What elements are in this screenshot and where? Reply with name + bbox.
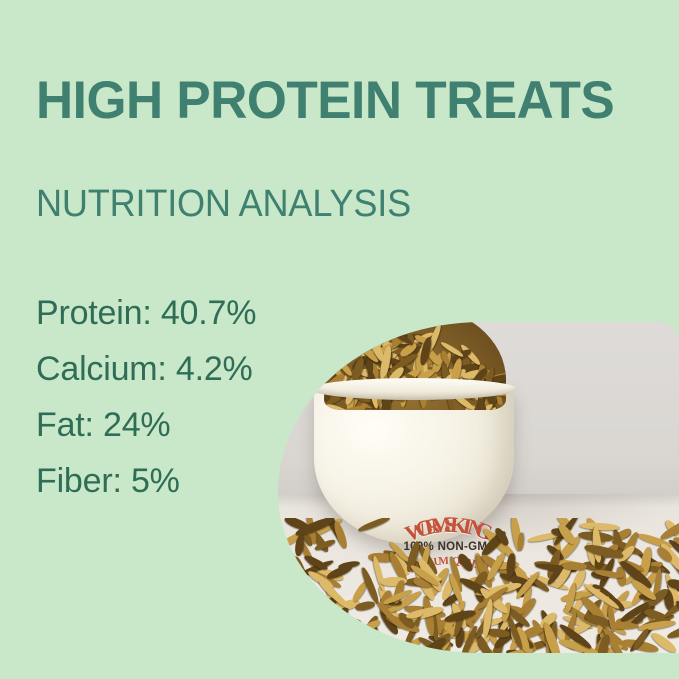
page-title: HIGH PROTEIN TREATS [36, 74, 614, 127]
list-item: Calcium: 4.2% [36, 352, 356, 386]
list-item: Fiber: 5% [36, 464, 356, 498]
larva [517, 532, 525, 551]
list-item: Fat: 24% [36, 408, 356, 442]
larva [457, 552, 475, 573]
larva [357, 518, 391, 533]
list-item: Protein: 40.7% [36, 296, 356, 330]
larva [579, 521, 620, 530]
scattered-larvae [278, 518, 679, 653]
nutrition-list: Protein: 40.7% Calcium: 4.2% Fat: 24% Fi… [36, 296, 356, 498]
product-infographic-poster: WORMSKING 100% NON-GMO PREMIUM QUALITY H… [0, 0, 679, 679]
section-subtitle: NUTRITION ANALYSIS [36, 185, 411, 223]
